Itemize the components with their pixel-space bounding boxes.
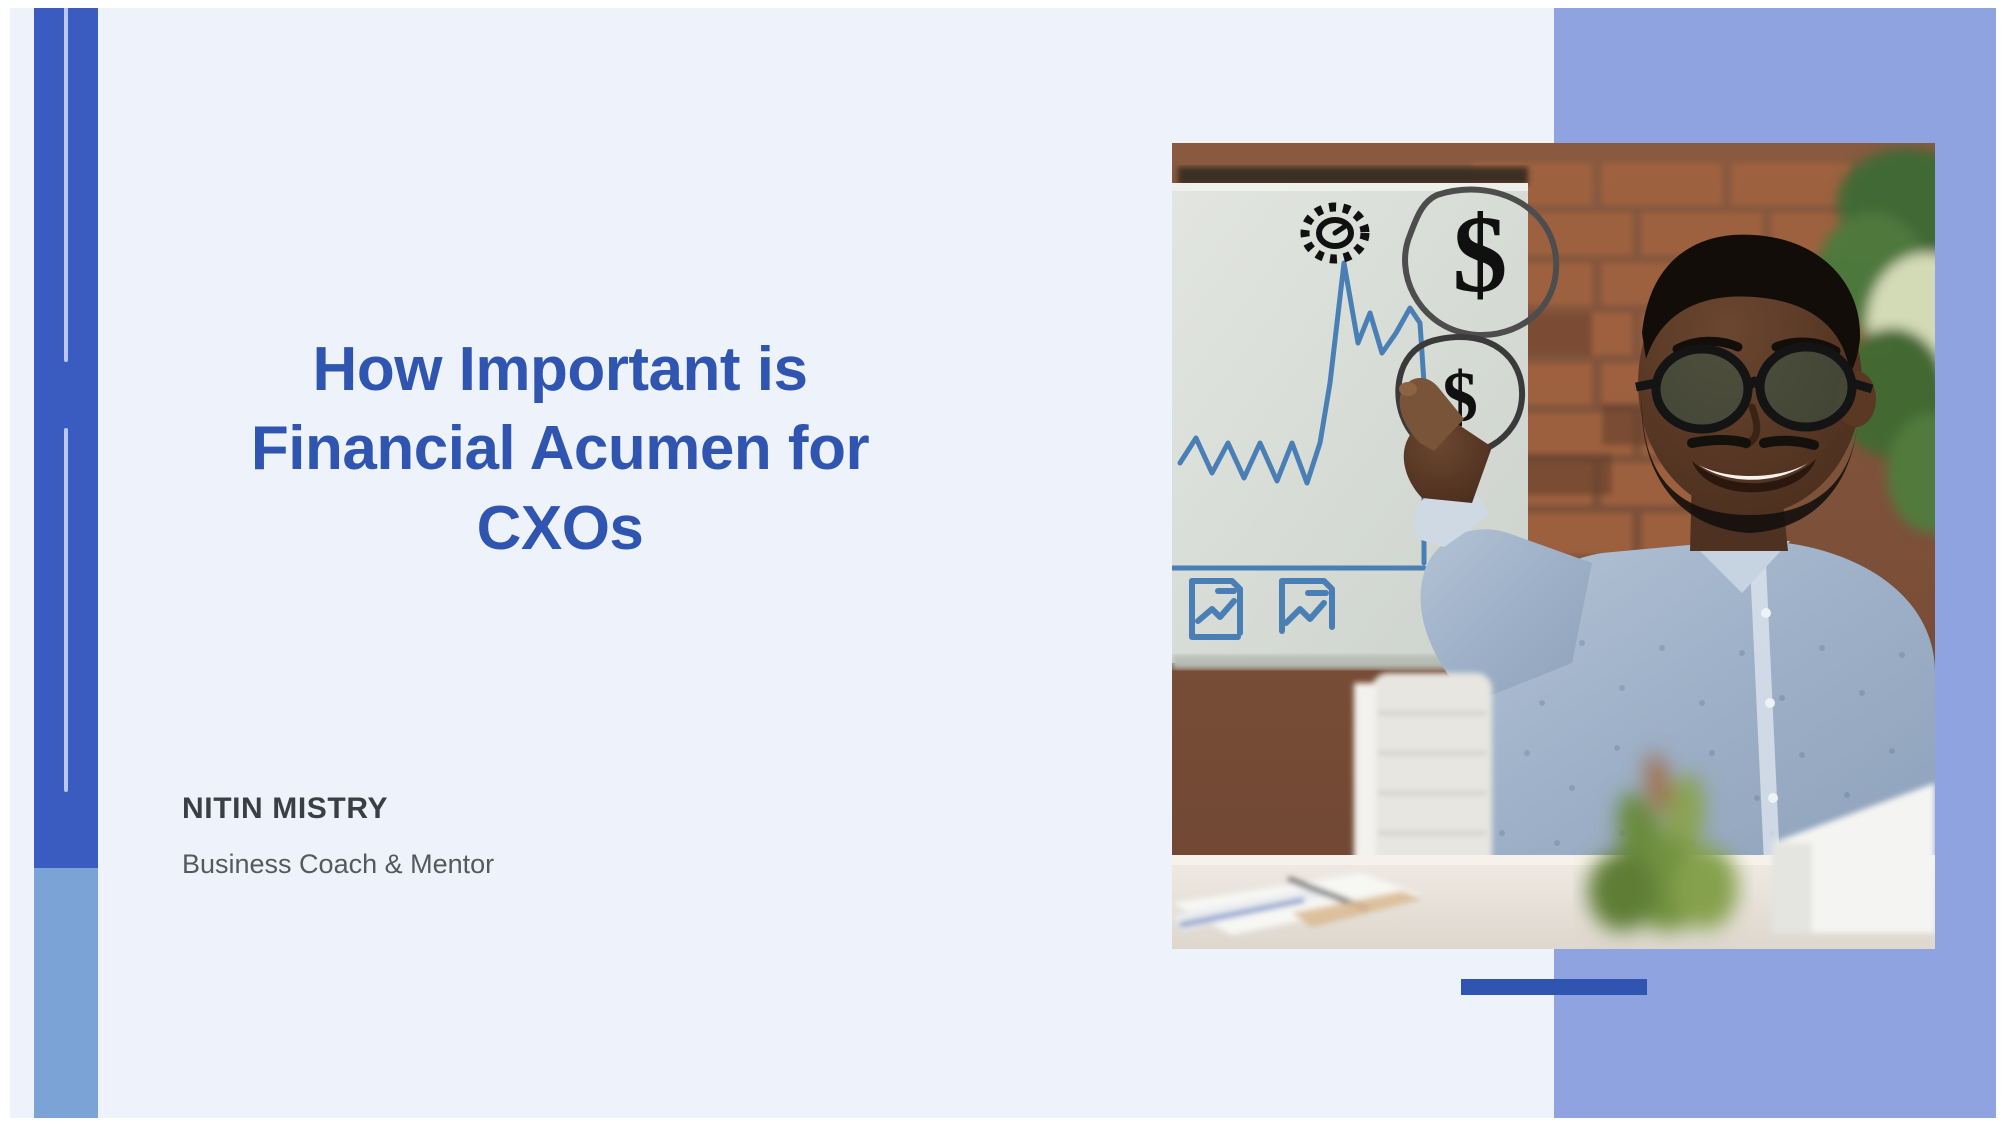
photo-illustration: $ $ — [1172, 143, 1935, 949]
page-title: How Important is Financial Acumen for CX… — [140, 330, 980, 568]
frame-edge-left — [0, 0, 10, 1128]
presenter-block: NITIN MISTRY Business Coach & Mentor — [182, 790, 494, 880]
presenter-name: NITIN MISTRY — [182, 790, 494, 828]
hero-photo: $ $ — [1172, 143, 1935, 949]
frame-edge-bottom — [0, 1118, 2002, 1128]
bottom-accent-dash — [1461, 979, 1647, 995]
slide-canvas: How Important is Financial Acumen for CX… — [0, 0, 2002, 1128]
frame-edge-top — [0, 0, 2002, 8]
sidebar-accent-bar-light — [34, 868, 98, 1120]
frame-edge-right — [1996, 0, 2002, 1128]
sidebar-inner-line-bottom — [64, 428, 68, 792]
presenter-role: Business Coach & Mentor — [182, 848, 494, 880]
title-line-3: CXOs — [140, 489, 980, 568]
sidebar-inner-line-top — [64, 0, 68, 362]
title-line-1: How Important is — [140, 330, 980, 409]
svg-text:$: $ — [1453, 193, 1508, 315]
title-line-2: Financial Acumen for — [140, 409, 980, 488]
